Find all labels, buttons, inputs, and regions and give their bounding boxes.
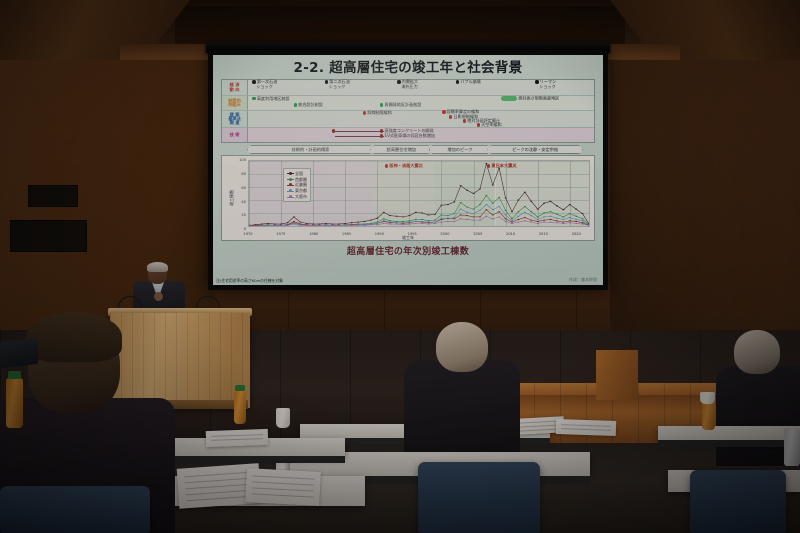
phase-band: 増加のピーク — [429, 145, 492, 154]
series-point — [338, 225, 340, 226]
series-point — [569, 222, 571, 223]
event-marker-icon — [294, 103, 297, 106]
series-point — [434, 223, 436, 224]
series-point — [556, 222, 558, 223]
series-point — [357, 222, 359, 223]
series-point — [511, 222, 513, 223]
timeline-row-economy: 経 済 動 向 第一次石油 ショック 第二次石油 ショック 内 — [222, 80, 594, 96]
series-point — [370, 224, 372, 225]
x-tick-label: 2005 — [473, 232, 482, 236]
handout — [206, 429, 269, 447]
event-marker-icon — [449, 115, 452, 118]
chart-annotation: 東日本大震災 — [487, 163, 517, 169]
lecture-hall-photo: 2-2. 超高層住宅の竣工年と社会背景 経 済 動 向 第一次石油 ショック — [0, 0, 800, 533]
series-point — [575, 223, 577, 224]
speaker-hand — [154, 292, 163, 301]
series-point — [428, 220, 430, 221]
series-point — [415, 221, 417, 222]
legend-swatch-icon — [287, 197, 294, 198]
x-tick-label: 1975 — [276, 232, 285, 236]
chart-annotation: 阪神・淡路大震災 — [385, 163, 423, 169]
series-point — [363, 225, 365, 226]
series-point — [492, 218, 494, 219]
event-marker-icon — [332, 129, 335, 132]
series-point — [293, 217, 295, 218]
series-point — [575, 221, 577, 222]
series-point — [505, 198, 507, 199]
row-label-line2: 動 向 — [230, 88, 240, 92]
series-point — [466, 190, 468, 191]
series-point — [402, 222, 404, 223]
series-point — [351, 225, 353, 226]
series-point — [453, 202, 455, 203]
row-label-economy: 経 済 動 向 — [222, 80, 248, 95]
series-point — [569, 217, 571, 218]
series-point — [383, 212, 385, 213]
attendee-right-head — [734, 330, 780, 374]
series-point — [299, 224, 301, 225]
series-point — [543, 220, 545, 221]
series-point — [575, 216, 577, 217]
series-point — [472, 209, 474, 210]
attendee-left-hair — [26, 312, 122, 362]
series-point — [261, 224, 263, 225]
series-point — [485, 204, 487, 205]
series-point — [575, 209, 577, 210]
series-point — [376, 223, 378, 224]
y-axis-label: 竣工棟数 — [229, 190, 235, 206]
series-point — [582, 222, 584, 223]
y-tick-label: 40 — [232, 200, 246, 204]
series-point — [267, 225, 269, 226]
series-point — [543, 222, 545, 223]
x-tick-label: 2010 — [506, 232, 515, 236]
series-point — [293, 221, 295, 222]
wall-vent-panel — [10, 220, 87, 252]
series-point — [396, 221, 398, 222]
timeline-event: 高度利用地区創設 — [252, 97, 289, 102]
ceiling-recess — [175, 6, 625, 46]
table-left-edge — [170, 456, 345, 463]
series-point — [434, 220, 436, 221]
series-point — [472, 213, 474, 214]
tumbler — [784, 428, 800, 466]
series-point — [325, 225, 327, 226]
chart-legend: 全国 首都圏 近畿圏 東京都 大阪市 — [283, 168, 311, 202]
series-point — [286, 225, 288, 226]
series-point — [562, 222, 564, 223]
series-point — [466, 215, 468, 216]
series-point — [402, 221, 404, 222]
bottle-cap — [235, 385, 245, 391]
table-right — [658, 426, 800, 440]
series-point — [434, 214, 436, 215]
series-point — [549, 219, 551, 220]
series-point — [402, 217, 404, 218]
series-point — [517, 222, 519, 223]
series-point — [549, 222, 551, 223]
timeline-events-technology: 高強度コンクリートの開発 EV式駐車場の収容台数増加 — [249, 128, 594, 142]
series-point — [537, 209, 539, 210]
attendee-center-head — [436, 322, 488, 372]
series-point — [408, 215, 410, 216]
series-point — [498, 211, 500, 212]
paper-cup — [276, 408, 290, 428]
series-point — [396, 222, 398, 223]
grid-line-horizontal — [249, 226, 589, 227]
table-right-edge — [658, 440, 800, 447]
timeline-row-technology: 技 術 高強度コンクリートの開発 EV式駐車場の収容台数増加 — [222, 128, 594, 142]
series-point — [485, 209, 487, 210]
series-point — [549, 201, 551, 202]
series-point — [460, 215, 462, 216]
series-point — [562, 217, 564, 218]
paper-cup — [700, 392, 715, 404]
slide-caption: 超高層住宅の年次別竣工棟数 — [219, 244, 597, 257]
series-point — [415, 219, 417, 220]
series-point — [453, 218, 455, 219]
series-point — [293, 223, 295, 224]
laptop[interactable] — [0, 338, 38, 368]
series-point — [582, 218, 584, 219]
tea-bottle — [6, 378, 23, 428]
event-marker-icon — [380, 134, 383, 137]
series-point — [383, 218, 385, 219]
lectern — [110, 313, 250, 408]
series-point — [498, 217, 500, 218]
series-point — [582, 220, 584, 221]
series-point — [530, 211, 532, 212]
series-point — [479, 189, 481, 190]
attendee-center-torso — [404, 360, 520, 464]
series-point — [440, 222, 442, 223]
series-point — [556, 205, 558, 206]
event-marker-icon — [477, 123, 480, 126]
event-marker-pill-icon — [501, 96, 517, 101]
series-point — [537, 219, 539, 220]
chair-right[interactable] — [690, 470, 786, 533]
series-point — [319, 225, 321, 226]
series-point — [280, 225, 282, 226]
series-point — [440, 219, 442, 220]
series-point — [505, 218, 507, 219]
series-point — [306, 225, 308, 226]
wall-right — [610, 60, 800, 350]
timeline-event: 再開発地区計画創設 — [380, 103, 421, 108]
series-point — [453, 217, 455, 218]
x-tick-label: 1980 — [309, 232, 318, 236]
wall-speaker-grille — [28, 185, 78, 207]
lectern-grain — [110, 313, 250, 408]
series-point — [331, 224, 333, 225]
series-point — [517, 200, 519, 201]
series-point — [312, 224, 314, 225]
series-point — [274, 224, 276, 225]
series-point — [376, 222, 378, 223]
series-point — [440, 205, 442, 206]
series-point — [537, 223, 539, 224]
phase-band: 技術的・計画的模索 — [247, 145, 374, 154]
series-point — [428, 222, 430, 223]
series-point — [479, 220, 481, 221]
series-point — [524, 217, 526, 218]
row-label-technology: 技 術 — [222, 128, 248, 142]
timeline-table: 経 済 動 向 第一次石油 ショック 第二次石油 ショック 内 — [221, 79, 595, 143]
timeline-event: 第二次石油 ショック — [325, 80, 350, 89]
series-point — [530, 215, 532, 216]
series-point — [338, 224, 340, 225]
series-point — [530, 222, 532, 223]
phase-band-row: 技術的・計画的模索 超高層住宅増加 増加のピーク ピークの沈静・安定供給 — [247, 145, 595, 154]
series-point — [466, 207, 468, 208]
series-point — [376, 224, 378, 225]
series-point — [344, 223, 346, 224]
y-tick-label: 0 — [232, 227, 246, 231]
series-point — [485, 216, 487, 217]
series-point — [511, 211, 513, 212]
legend-swatch-icon — [287, 191, 294, 192]
series-point — [524, 220, 526, 221]
series-point — [543, 213, 545, 214]
plot-area: 全国 首都圏 近畿圏 東京都 大阪市 阪神・淡路大震災 東日本大震災 — [248, 160, 590, 227]
series-point — [524, 192, 526, 193]
series-point — [479, 210, 481, 211]
event-marker-icon — [442, 110, 445, 113]
series-point — [415, 223, 417, 224]
series-point — [575, 219, 577, 220]
presentation-slide: 2-2. 超高層住宅の竣工年と社会背景 経 済 動 向 第一次石油 ショック — [213, 55, 603, 285]
series-point — [428, 215, 430, 216]
row-label-line1: 技 術 — [230, 133, 240, 137]
timeline-event: 斜線制限緩和 — [363, 111, 392, 116]
x-axis-label: 竣工年 — [402, 235, 414, 241]
series-line — [249, 205, 589, 226]
slide-title: 2-2. 超高層住宅の竣工年と社会背景 — [219, 61, 597, 75]
series-point — [569, 220, 571, 221]
series-point — [492, 203, 494, 204]
series-point — [357, 225, 359, 226]
series-point — [549, 211, 551, 212]
speaker-hair — [147, 262, 168, 272]
phase-band: 超高層住宅増加 — [370, 145, 433, 154]
series-point — [280, 224, 282, 225]
series-point — [447, 204, 449, 205]
timeline-event: バブル崩壊 — [456, 80, 481, 85]
series-point — [466, 212, 468, 213]
series-point — [549, 216, 551, 217]
event-marker-icon — [363, 111, 366, 114]
series-point — [556, 218, 558, 219]
legend-swatch-icon — [287, 173, 294, 174]
timeline-row-system: 制度的 枠組み 高度利用地区創設 総合設計創設 再開発地区計画創設 — [222, 96, 594, 111]
series-point — [434, 222, 436, 223]
timeline-event — [332, 129, 336, 134]
series-point — [582, 224, 584, 225]
event-marker-icon — [325, 80, 328, 83]
y-tick-label: 60 — [232, 186, 246, 190]
chart-footnote: 注)住宅用途率の高さ60mの住棟を対象 — [216, 278, 283, 284]
phase-band: ピークの沈静・安定供給 — [487, 145, 583, 154]
series-point — [306, 223, 308, 224]
series-point — [537, 221, 539, 222]
timeline-event: 内需拡大 海外圧力 — [397, 80, 418, 89]
series-point — [331, 225, 333, 226]
event-marker-icon — [456, 80, 459, 83]
series-point — [408, 220, 410, 221]
series-point — [505, 210, 507, 211]
timeline-connector — [335, 131, 383, 132]
series-point — [460, 202, 462, 203]
y-tick-label: 100 — [232, 158, 246, 162]
series-point — [447, 215, 449, 216]
series-point — [479, 217, 481, 218]
series-point — [498, 197, 500, 198]
row-label-law: 建 築 基準法 関 連 — [222, 111, 248, 127]
series-point — [421, 221, 423, 222]
y-tick-label: 80 — [232, 172, 246, 176]
timeline-events-law: 斜線制限緩和 容積率算定の緩和 日影規制緩和 絶対計画評定廃止 天空率緩和 — [249, 111, 594, 127]
series-point — [479, 204, 481, 205]
series-point — [267, 223, 269, 224]
series-point — [511, 218, 513, 219]
series-point — [440, 215, 442, 216]
series-point — [582, 213, 584, 214]
series-point — [428, 224, 430, 225]
series-point — [325, 223, 327, 224]
series-point — [562, 223, 564, 224]
annotation-marker-icon — [385, 164, 388, 167]
series-point — [396, 216, 398, 217]
series-point — [466, 219, 468, 220]
series-point — [421, 213, 423, 214]
series-point — [408, 222, 410, 223]
series-point — [447, 221, 449, 222]
timeline-events-economy: 第一次石油 ショック 第二次石油 ショック 内需拡大 海外圧力 バブル崩壊 — [249, 80, 594, 95]
series-point — [319, 224, 321, 225]
series-point — [421, 219, 423, 220]
series-point — [472, 220, 474, 221]
open-booklet — [245, 468, 321, 506]
series-point — [537, 217, 539, 218]
series-point — [383, 223, 385, 224]
tea-bottle — [234, 390, 246, 424]
series-point — [312, 225, 314, 226]
series-point — [389, 215, 391, 216]
series-point — [383, 220, 385, 221]
series-point — [492, 185, 494, 186]
series-point — [274, 225, 276, 226]
bottle-cap — [8, 371, 21, 379]
projection-screen: 2-2. 超高層住宅の竣工年と社会背景 経 済 動 向 第一次石油 ショック — [213, 55, 603, 285]
series-point — [517, 211, 519, 212]
x-tick-label: 1985 — [342, 232, 351, 236]
x-tick-label: 2000 — [440, 232, 449, 236]
row-label-line3: 関 連 — [230, 121, 240, 125]
timeline-event: 第一次石油 ショック — [252, 80, 277, 89]
series-point — [569, 213, 571, 214]
series-point — [460, 185, 462, 186]
series-point — [517, 219, 519, 220]
slide-credit: 作成：森本修弥 — [569, 277, 597, 283]
line-chart: 竣工棟数 020406080100 全国 首都圏 近畿圏 東京都 大阪市 — [221, 155, 595, 241]
x-tick-label: 2015 — [539, 232, 548, 236]
legend-item: 大阪市 — [287, 194, 308, 200]
series-point — [524, 212, 526, 213]
series-point — [524, 206, 526, 207]
series-point — [511, 220, 513, 221]
annotation-marker-icon — [487, 164, 490, 167]
series-point — [453, 213, 455, 214]
timeline-event: 天空率緩和 — [477, 123, 502, 128]
series-point — [530, 220, 532, 221]
series-point — [556, 220, 558, 221]
series-point — [389, 222, 391, 223]
stage-side-podium — [596, 350, 638, 400]
series-point — [363, 221, 365, 222]
series-point — [396, 224, 398, 225]
series-point — [402, 224, 404, 225]
x-tick-label: 1990 — [375, 232, 384, 236]
event-marker-icon — [463, 119, 466, 122]
timeline-row-law: 建 築 基準法 関 連 斜線制限緩和 容積率算定の緩和 日影規制緩和 — [222, 111, 594, 128]
series-point — [517, 216, 519, 217]
series-point — [543, 217, 545, 218]
chair-left[interactable] — [0, 486, 150, 533]
series-point — [376, 218, 378, 219]
series-point — [511, 223, 513, 224]
series-point — [498, 206, 500, 207]
legend-swatch-icon — [287, 185, 294, 186]
series-point — [505, 215, 507, 216]
legend-swatch-icon — [287, 179, 294, 180]
x-tick-label: 1970 — [243, 232, 252, 236]
row-label-system: 制度的 枠組み — [222, 96, 248, 110]
series-point — [472, 193, 474, 194]
series-point — [370, 220, 372, 221]
x-tick-label: 2020 — [572, 232, 581, 236]
series-point — [569, 204, 571, 205]
series-point — [505, 221, 507, 222]
event-marker-icon — [380, 129, 383, 132]
timeline-connector — [335, 136, 383, 137]
chair-center[interactable] — [418, 462, 540, 533]
y-tick-label: 20 — [232, 213, 246, 217]
series-point — [460, 218, 462, 219]
series-point — [543, 203, 545, 204]
series-point — [556, 214, 558, 215]
event-marker-icon — [380, 103, 383, 106]
series-point — [492, 209, 494, 210]
series-point — [562, 209, 564, 210]
series-point — [485, 195, 487, 196]
timeline-event: 総合設計創設 — [294, 103, 323, 108]
series-point — [421, 223, 423, 224]
series-point — [472, 217, 474, 218]
series-point — [460, 209, 462, 210]
series-point — [453, 221, 455, 222]
timeline-event: 絶対高さ制限高度地区 — [501, 96, 559, 101]
series-point — [408, 224, 410, 225]
series-point — [562, 219, 564, 220]
series-point — [492, 215, 494, 216]
timeline-events-system: 高度利用地区創設 総合設計創設 再開発地区計画創設 絶対高さ制限高度地区 — [249, 96, 594, 110]
timeline-event: EV式駐車場の収容台数増加 — [380, 134, 435, 139]
series-point — [415, 212, 417, 213]
series-point — [389, 224, 391, 225]
handout — [556, 419, 616, 436]
timeline-event: リーマン ショック — [535, 80, 556, 89]
series-point — [389, 220, 391, 221]
